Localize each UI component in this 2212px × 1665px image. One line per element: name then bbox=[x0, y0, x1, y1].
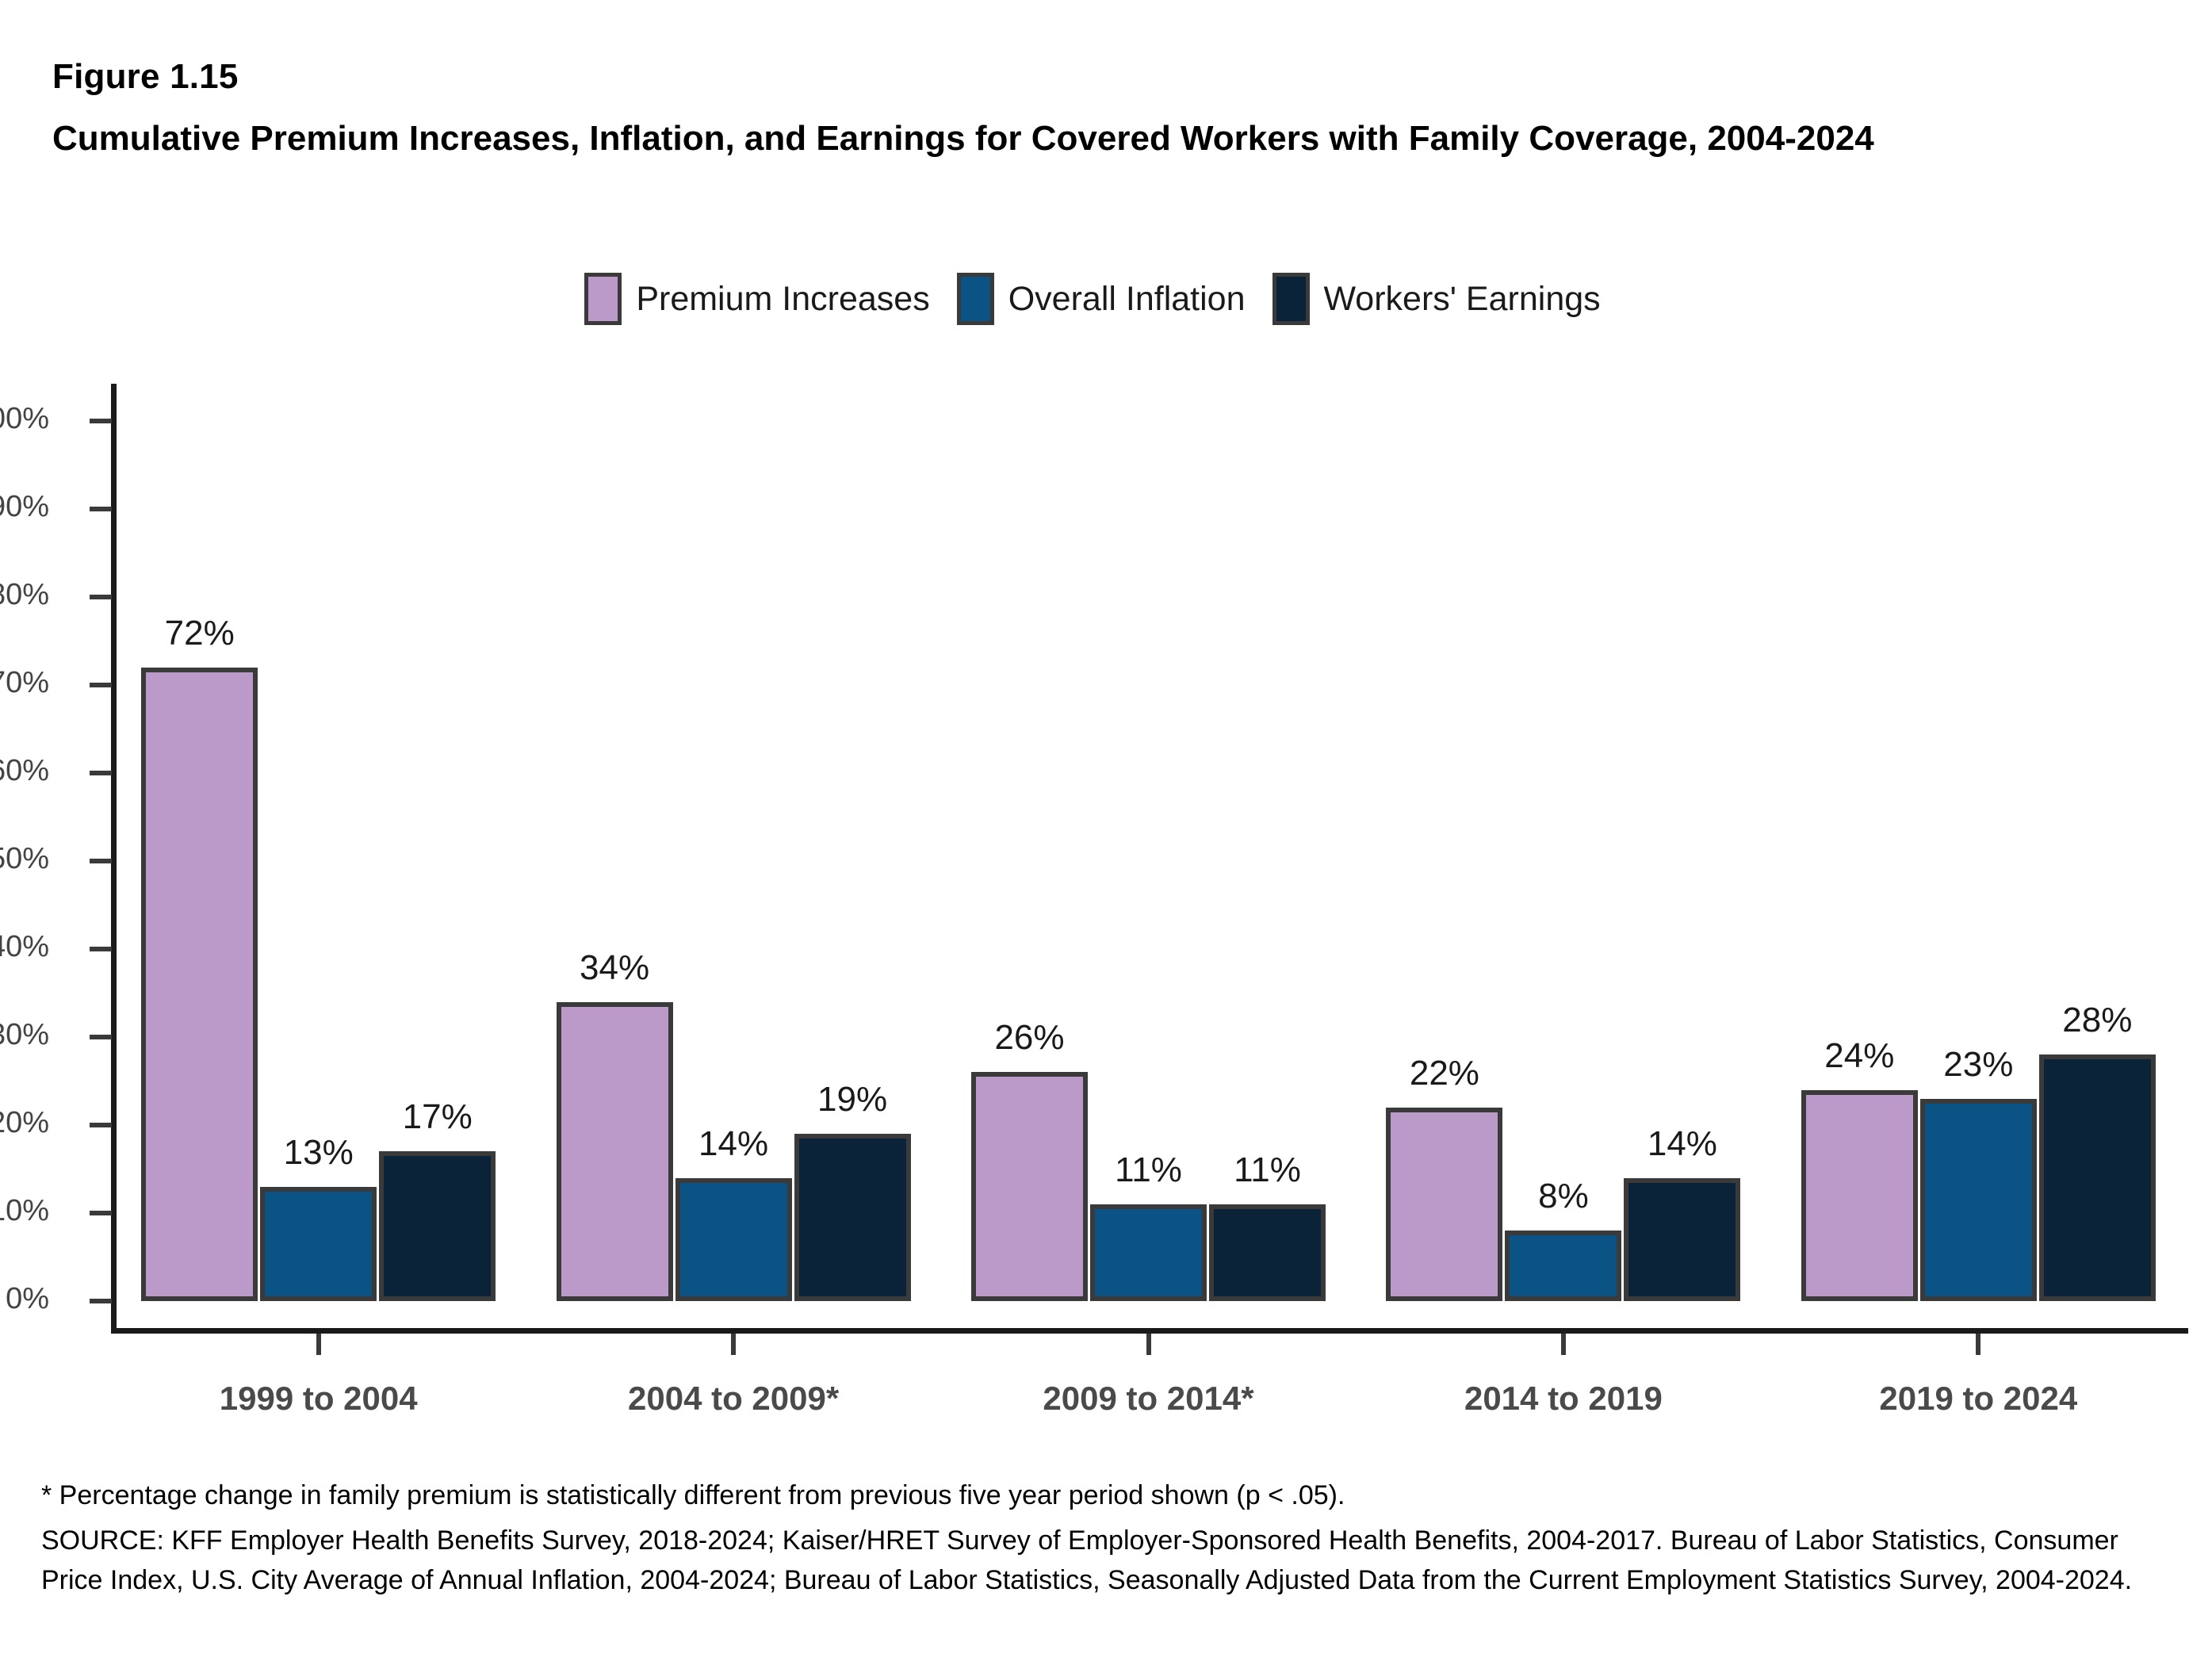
y-axis-tick bbox=[90, 1035, 112, 1039]
bar[interactable] bbox=[379, 1151, 496, 1301]
bar-value-label: 34% bbox=[580, 948, 649, 988]
bar[interactable] bbox=[794, 1134, 911, 1301]
bar[interactable] bbox=[971, 1072, 1088, 1301]
figure-page: Figure 1.15 Cumulative Premium Increases… bbox=[0, 0, 2212, 1665]
y-axis-tick-label: 60% bbox=[0, 754, 49, 788]
bar[interactable] bbox=[1090, 1204, 1207, 1301]
bar-value-label: 22% bbox=[1410, 1054, 1479, 1093]
x-axis-line bbox=[111, 1328, 2188, 1334]
x-axis-tick bbox=[1976, 1334, 1980, 1355]
y-axis-tick bbox=[90, 419, 112, 423]
x-axis-tick bbox=[316, 1334, 321, 1355]
y-axis-tick bbox=[90, 595, 112, 599]
y-axis-tick bbox=[90, 859, 112, 863]
bar-value-label: 8% bbox=[1538, 1177, 1589, 1216]
y-axis-line bbox=[111, 384, 117, 1333]
bar[interactable] bbox=[141, 668, 258, 1301]
bar[interactable] bbox=[1505, 1231, 1621, 1301]
bar[interactable] bbox=[1386, 1108, 1502, 1301]
y-axis-tick bbox=[90, 683, 112, 687]
bar[interactable] bbox=[1801, 1090, 1918, 1301]
y-axis-tick bbox=[90, 1123, 112, 1127]
y-axis-tick bbox=[90, 947, 112, 951]
x-axis-tick bbox=[731, 1334, 736, 1355]
bar-value-label: 23% bbox=[1943, 1045, 2013, 1085]
x-axis-category-label: 2019 to 2024 bbox=[1879, 1380, 2077, 1418]
y-axis-tick-label: 0% bbox=[0, 1282, 49, 1316]
bar[interactable] bbox=[557, 1002, 673, 1301]
bar-value-label: 11% bbox=[1234, 1150, 1301, 1190]
y-axis-tick-label: 40% bbox=[0, 930, 49, 964]
y-axis-tick bbox=[90, 507, 112, 511]
x-axis-tick bbox=[1561, 1334, 1566, 1355]
y-axis-tick-label: 30% bbox=[0, 1018, 49, 1052]
bar[interactable] bbox=[260, 1187, 377, 1301]
y-axis-tick bbox=[90, 1211, 112, 1215]
bar-value-label: 17% bbox=[403, 1097, 473, 1137]
figure-footnote: * Percentage change in family premium is… bbox=[41, 1476, 2182, 1515]
bar-value-label: 72% bbox=[165, 614, 235, 653]
figure-source: SOURCE: KFF Employer Health Benefits Sur… bbox=[41, 1521, 2182, 1600]
y-axis-tick-label: 50% bbox=[0, 842, 49, 876]
bar-value-label: 26% bbox=[994, 1018, 1064, 1058]
x-axis-category-label: 2014 to 2019 bbox=[1464, 1380, 1663, 1418]
y-axis-tick bbox=[90, 771, 112, 775]
y-axis-tick-label: 100% bbox=[0, 402, 49, 436]
y-axis-tick-label: 20% bbox=[0, 1106, 49, 1140]
bar[interactable] bbox=[675, 1178, 792, 1301]
bar[interactable] bbox=[1624, 1178, 1740, 1301]
bar-value-label: 19% bbox=[817, 1080, 887, 1120]
y-axis-tick bbox=[90, 1299, 112, 1303]
bar-value-label: 13% bbox=[284, 1133, 354, 1173]
bar-value-label: 28% bbox=[2062, 1001, 2132, 1040]
y-axis-tick-label: 70% bbox=[0, 666, 49, 700]
chart-plot-area: 0%10%20%30%40%50%60%70%80%90%100%1999 to… bbox=[0, 0, 2212, 1665]
bar-value-label: 14% bbox=[1648, 1124, 1717, 1164]
bar-value-label: 14% bbox=[698, 1124, 768, 1164]
y-axis-tick-label: 80% bbox=[0, 578, 49, 612]
x-axis-category-label: 2009 to 2014* bbox=[1043, 1380, 1253, 1418]
bar-value-label: 11% bbox=[1115, 1150, 1182, 1190]
y-axis-tick-label: 90% bbox=[0, 490, 49, 524]
bar[interactable] bbox=[2039, 1054, 2156, 1301]
x-axis-tick bbox=[1146, 1334, 1151, 1355]
x-axis-category-label: 1999 to 2004 bbox=[220, 1380, 418, 1418]
x-axis-category-label: 2004 to 2009* bbox=[628, 1380, 839, 1418]
y-axis-tick-label: 10% bbox=[0, 1194, 49, 1228]
bar[interactable] bbox=[1209, 1204, 1326, 1301]
bar[interactable] bbox=[1920, 1099, 2037, 1301]
bar-value-label: 24% bbox=[1824, 1036, 1894, 1076]
figure-notes: * Percentage change in family premium is… bbox=[41, 1476, 2182, 1600]
